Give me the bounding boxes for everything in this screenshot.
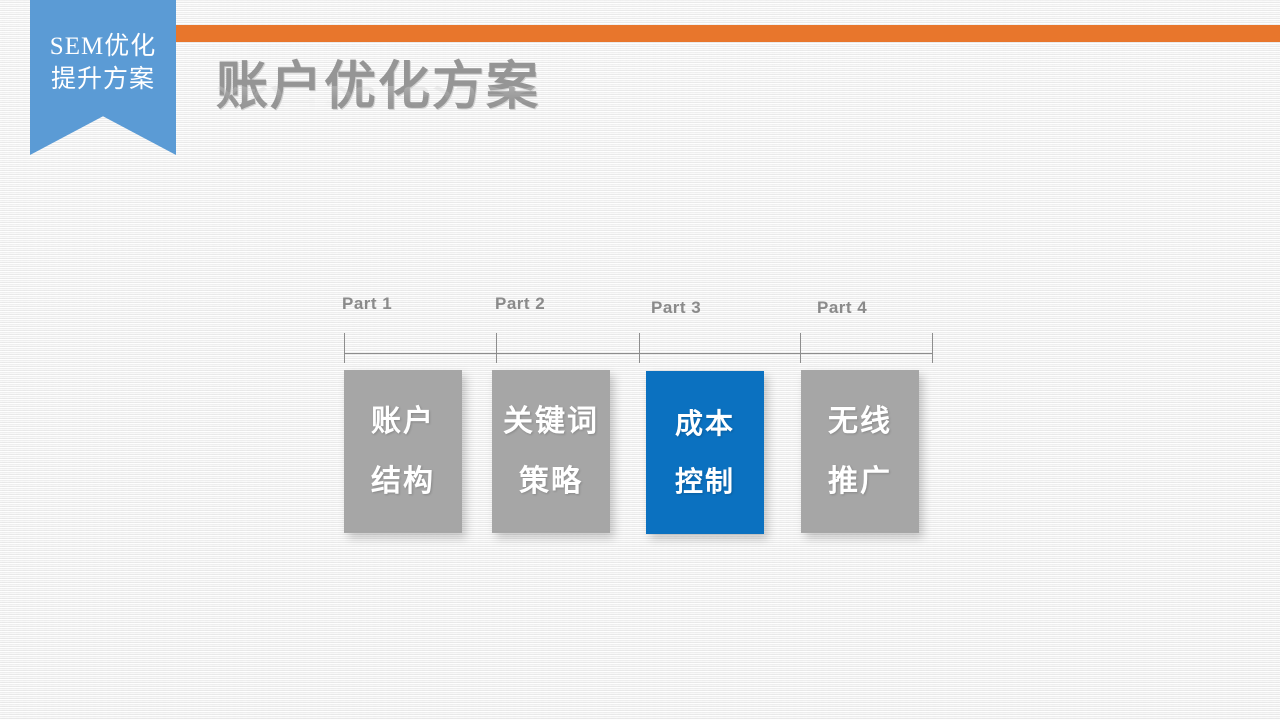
card-3-line-2: 控制 xyxy=(675,467,735,496)
card-1-line-2: 结构 xyxy=(371,466,435,498)
part-label-2: Part 2 xyxy=(495,294,545,314)
slide-canvas: SEM优化 提升方案 账户优化方案 账户优化方案 Part 1 Part 2 P… xyxy=(0,0,1280,720)
section-card-mobile-promotion[interactable]: 无线 推广 xyxy=(801,370,919,533)
section-card-keyword-strategy[interactable]: 关键词 策略 xyxy=(492,370,610,533)
card-4-line-1: 无线 xyxy=(828,406,892,438)
part-label-4: Part 4 xyxy=(817,298,867,318)
section-card-cost-control[interactable]: 成本 控制 xyxy=(646,371,764,534)
part-label-1: Part 1 xyxy=(342,294,392,314)
timeline-tick-3 xyxy=(639,333,640,363)
timeline-tick-5 xyxy=(932,333,933,363)
timeline-tick-1 xyxy=(344,333,345,363)
card-4-line-2: 推广 xyxy=(828,466,892,498)
card-1-line-1: 账户 xyxy=(371,406,435,438)
card-2-line-2: 策略 xyxy=(519,466,583,498)
timeline-axis xyxy=(344,353,933,354)
timeline-tick-2 xyxy=(496,333,497,363)
page-title-text: 账户优化方案 xyxy=(216,58,540,116)
orange-accent-bar xyxy=(176,25,1280,42)
ribbon-banner: SEM优化 提升方案 xyxy=(30,0,176,155)
timeline-tick-4 xyxy=(800,333,801,363)
section-card-account-structure[interactable]: 账户 结构 xyxy=(344,370,462,533)
ribbon-line-2: 提升方案 xyxy=(30,63,176,96)
part-label-3: Part 3 xyxy=(651,298,701,318)
card-3-line-1: 成本 xyxy=(675,409,735,438)
card-2-line-1: 关键词 xyxy=(503,406,599,438)
ribbon-line-1: SEM优化 xyxy=(30,30,176,63)
page-title: 账户优化方案 账户优化方案 xyxy=(216,58,540,168)
